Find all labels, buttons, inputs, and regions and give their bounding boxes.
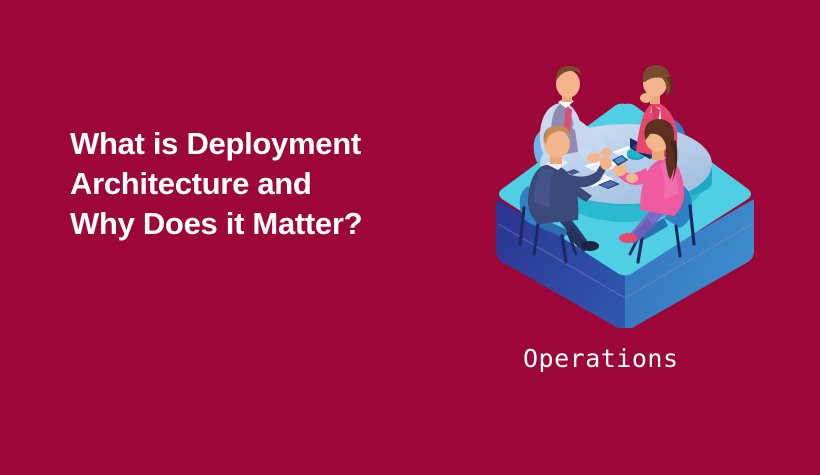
headline-line-1: What is Deployment [70, 124, 470, 164]
page-title: What is Deployment Architecture and Why … [70, 124, 470, 244]
headline-line-3: Why Does it Matter? [70, 204, 470, 244]
isometric-team-meeting-illustration [480, 48, 770, 328]
category-label: Operations [523, 344, 679, 373]
banner-graphic: What is Deployment Architecture and Why … [0, 0, 820, 475]
headline-line-2: Architecture and [70, 164, 470, 204]
